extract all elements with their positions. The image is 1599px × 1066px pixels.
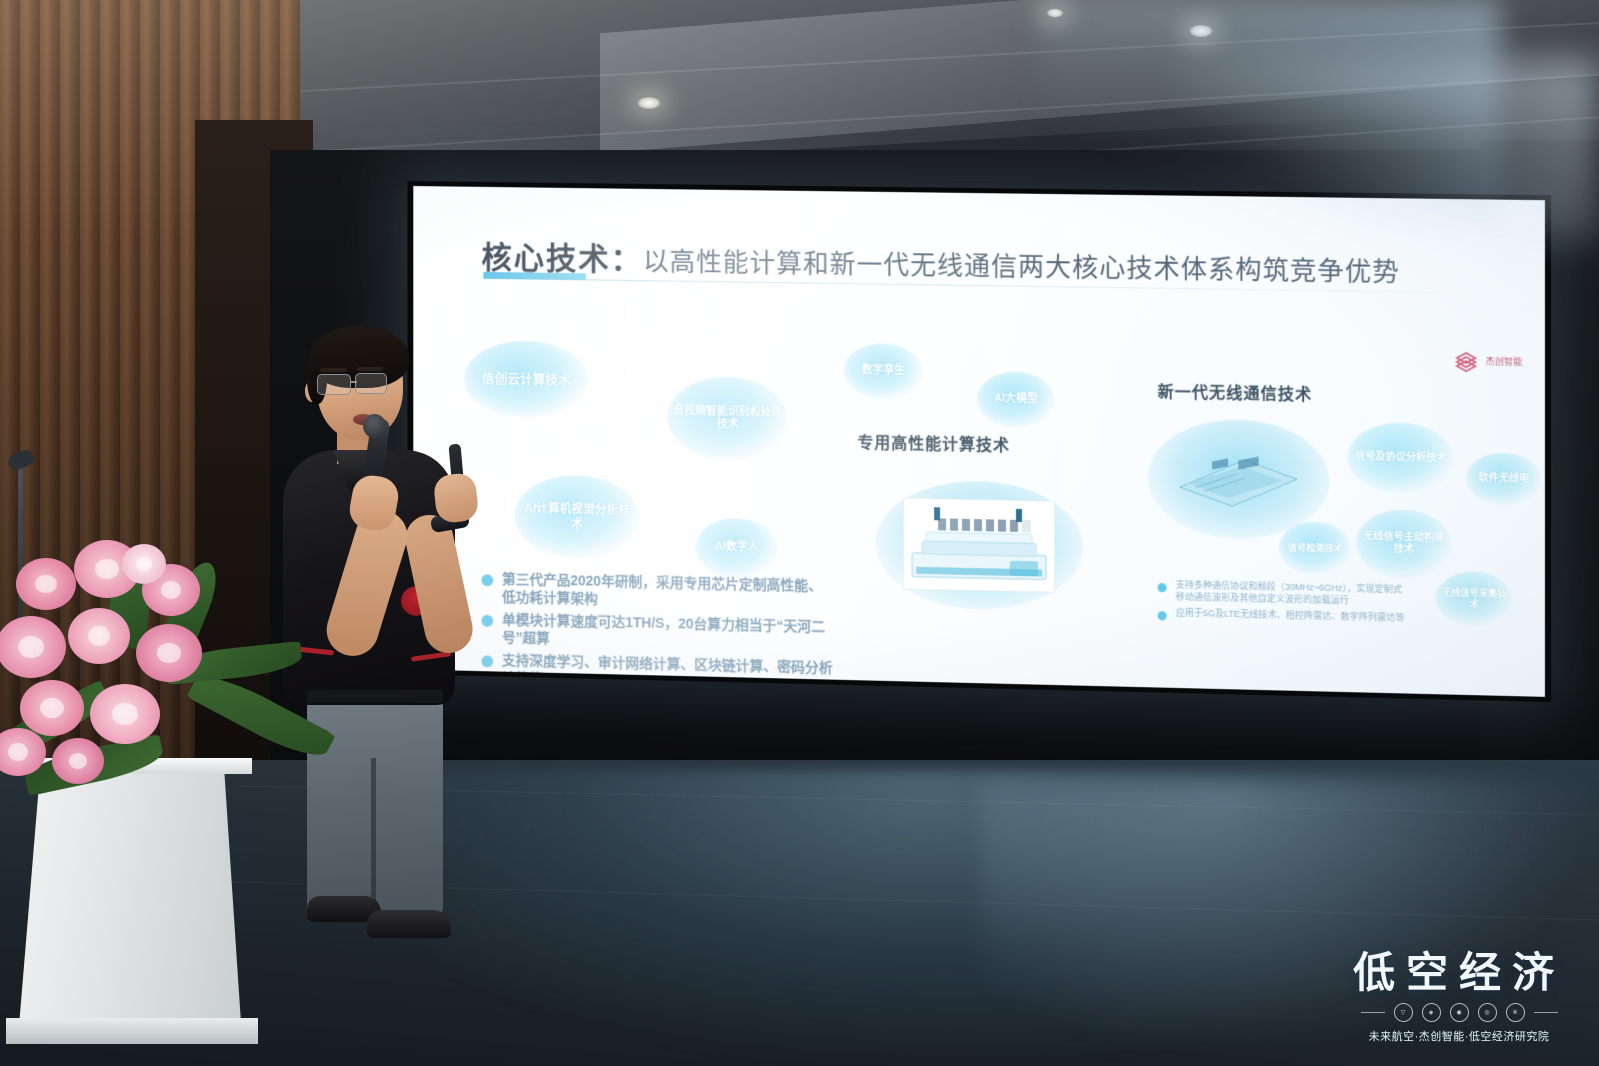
- list-item: 应用于5G及LTE无线技术、相控阵雷达、数字阵列雷达等: [1158, 608, 1411, 627]
- title-accent-bar: [483, 272, 586, 280]
- flower-lily: [122, 544, 166, 584]
- presenter-glasses-bridge: [350, 381, 357, 383]
- partner-badge-3-icon: ◉: [1450, 1003, 1469, 1022]
- presenter-glasses-right-lens: [355, 373, 387, 394]
- section-heading-hpc: 专用高性能计算技术: [857, 429, 1010, 456]
- list-item: 支持多种通信协议和频段（30MHz~6GHz），实现定制式移动通信波形及其他自定…: [1158, 579, 1411, 608]
- tech-bubble-digital-twin[interactable]: 数字孪生: [844, 343, 924, 400]
- presenter-eyebrow-left: [320, 368, 347, 372]
- flower-pink: [90, 684, 160, 744]
- flower-pink: [0, 616, 66, 678]
- tech-bubble-signal-acquisition[interactable]: 无线信号采集技术: [1435, 571, 1513, 627]
- tech-bubble-ai-digital-human[interactable]: AI数字人: [695, 517, 778, 578]
- presenter-hand-right: [433, 472, 480, 524]
- tech-bubble-ai-vision[interactable]: AI计算机视觉分析技术: [515, 474, 640, 560]
- ceiling-downlight: [1046, 8, 1064, 18]
- company-logo: 杰创智能: [1453, 349, 1523, 376]
- tech-bubble-ai-large-model[interactable]: AI大模型: [977, 371, 1055, 428]
- presenter-eyebrow-right: [357, 367, 383, 371]
- flower-pink: [136, 624, 202, 682]
- partner-badge-4-icon: ◎: [1478, 1003, 1497, 1022]
- watermark-rule-left: [1361, 1012, 1385, 1013]
- presenter-glasses-left-lens: [317, 374, 351, 395]
- watermark-rule-right: [1534, 1012, 1558, 1013]
- section-heading-wireless: 新一代无线通信技术: [1158, 378, 1313, 405]
- partner-badge-5-icon: ※: [1506, 1003, 1525, 1022]
- ceiling-downlight: [1188, 24, 1214, 38]
- bullet-dot-icon: [1158, 612, 1167, 621]
- slide-content: 核心技术：以高性能计算和新一代无线通信两大核心技术体系构筑竞争优势: [413, 186, 1545, 697]
- tech-bubble-signal-detection[interactable]: 信号检测技术: [1279, 521, 1352, 575]
- ceiling-downlight: [636, 96, 662, 110]
- event-watermark: 低空经济 ▽ ◈ ◉ ◎ ※ 未来航空·杰创智能·低空经济研究院: [1331, 952, 1587, 1044]
- flower-pink: [52, 738, 104, 784]
- tech-bubble-software-defined-radio[interactable]: 软件无线电: [1466, 452, 1542, 506]
- list-item: 单模块计算速度可达1TH/S，20台算力相当于“天河二号”超算: [481, 611, 835, 655]
- flower-pink: [68, 608, 130, 664]
- presenter-leg-seam: [371, 758, 376, 918]
- watermark-logo-row: ▽ ◈ ◉ ◎ ※: [1331, 1003, 1587, 1022]
- watermark-title: 低空经济: [1331, 952, 1587, 994]
- list-item: 第三代产品2020年研制，采用专用芯片定制高性能、低功耗计算架构: [481, 570, 835, 613]
- presenter-shoe-right: [367, 910, 451, 938]
- flower-pink: [20, 680, 84, 736]
- slide-title-sub: 以高性能计算和新一代无线通信两大核心技术体系构筑竞争优势: [643, 241, 1400, 290]
- tech-bubble-av-recognition[interactable]: 音视频智能识别和处理技术: [668, 376, 788, 462]
- tech-bubble-signal-protocol-analysis[interactable]: 信号及协议分析技术: [1348, 422, 1454, 495]
- wireless-device-image: [1172, 441, 1306, 516]
- tech-bubble-active-signal-construction[interactable]: 无线信号主动构建技术: [1356, 509, 1452, 580]
- slide-surface: 核心技术：以高性能计算和新一代无线通信两大核心技术体系构筑竞争优势: [413, 186, 1545, 697]
- wireless-bullet-list: 支持多种通信协议和频段（30MHz~6GHz），实现定制式移动通信波形及其他自定…: [1158, 579, 1411, 631]
- partner-badge-2-icon: ◈: [1422, 1003, 1441, 1022]
- hpc-device-image: [903, 498, 1055, 593]
- watermark-subtitle: 未来航空·杰创智能·低空经济研究院: [1331, 1028, 1587, 1044]
- bullet-dot-icon: [1158, 583, 1167, 592]
- conference-scene: 核心技术：以高性能计算和新一代无线通信两大核心技术体系构筑竞争优势: [0, 0, 1599, 1066]
- partner-badge-1-icon: ▽: [1394, 1003, 1413, 1022]
- company-logo-mark: [1453, 349, 1480, 376]
- flower-pink: [16, 558, 76, 610]
- podium-base: [6, 1018, 258, 1044]
- company-logo-name: 杰创智能: [1486, 357, 1523, 368]
- flower-arrangement: [0, 512, 340, 822]
- led-presentation-screen[interactable]: 核心技术：以高性能计算和新一代无线通信两大核心技术体系构筑竞争优势: [407, 181, 1551, 702]
- slide-title: 核心技术：以高性能计算和新一代无线通信两大核心技术体系构筑竞争优势: [481, 232, 1511, 292]
